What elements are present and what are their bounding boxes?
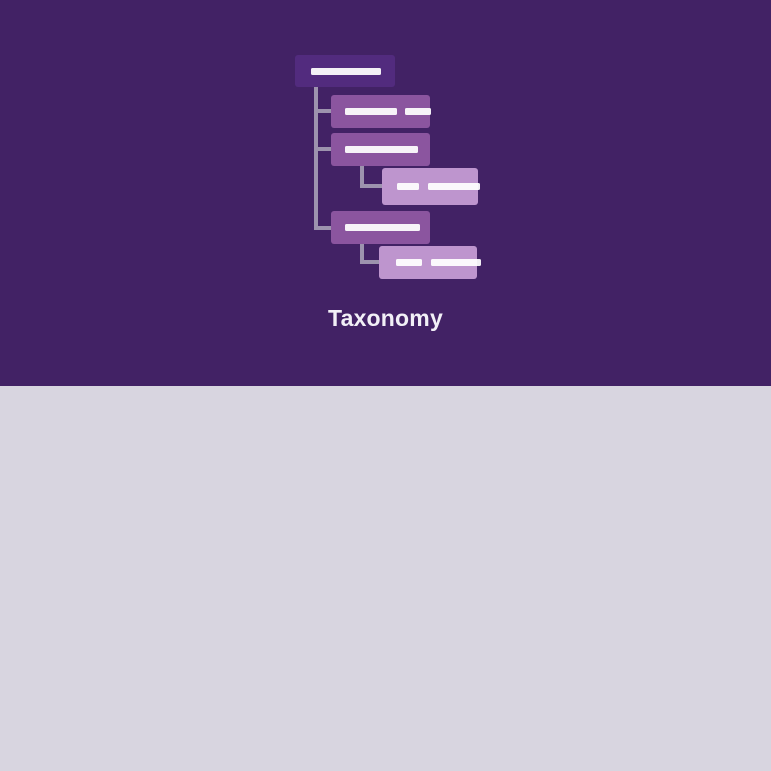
text-placeholder-line	[428, 183, 480, 190]
taxonomy-diagram	[0, 0, 771, 300]
taxonomy-caption: Taxonomy	[0, 305, 771, 332]
branch-node-2[interactable]	[331, 133, 430, 166]
text-placeholder-line	[397, 183, 419, 190]
branch-node-1[interactable]	[331, 95, 430, 128]
root-node[interactable]	[295, 55, 395, 87]
ontology-panel: Ontology	[0, 386, 771, 771]
taxonomy-panel: Taxonomy	[0, 0, 771, 386]
text-placeholder-line	[405, 108, 431, 115]
text-placeholder-line	[345, 108, 397, 115]
text-placeholder-line	[345, 146, 418, 153]
leaf-node-2[interactable]	[379, 246, 477, 279]
branch-node-3[interactable]	[331, 211, 430, 244]
text-placeholder-line	[345, 224, 420, 231]
branch2-to-leaf-1	[360, 184, 384, 188]
infographic-stage: Taxonomy Ontology	[0, 0, 771, 771]
leaf-node-1[interactable]	[382, 168, 478, 205]
text-placeholder-line	[311, 68, 381, 75]
text-placeholder-line	[396, 259, 422, 266]
text-placeholder-line	[431, 259, 481, 266]
